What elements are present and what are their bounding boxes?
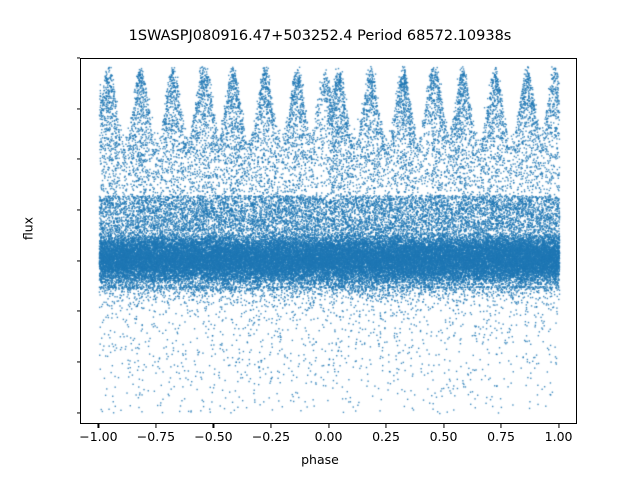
matplotlib-figure: 1SWASPJ080916.47+503252.4 Period 68572.1… xyxy=(0,0,640,480)
scatter-plot-canvas xyxy=(81,59,577,424)
x-axis-label: phase xyxy=(0,452,640,467)
y-axis-label: flux xyxy=(21,179,36,279)
y-tick-mark xyxy=(77,361,81,362)
y-tick-mark xyxy=(77,57,81,58)
y-tick-mark xyxy=(77,260,81,261)
y-tick-mark xyxy=(77,209,81,210)
x-tick-mark xyxy=(558,424,559,428)
x-tick-mark xyxy=(328,424,329,428)
plot-axes-area xyxy=(80,58,577,424)
x-tick-label: 1.00 xyxy=(524,429,594,444)
x-tick-mark xyxy=(213,424,214,428)
y-tick-mark xyxy=(77,108,81,109)
page-title: 1SWASPJ080916.47+503252.4 Period 68572.1… xyxy=(0,28,640,44)
x-tick-mark xyxy=(98,424,99,428)
y-tick-mark xyxy=(77,412,81,413)
y-tick-mark xyxy=(77,311,81,312)
x-tick-mark xyxy=(385,424,386,428)
x-tick-mark xyxy=(501,424,502,428)
x-tick-mark xyxy=(155,424,156,428)
x-tick-mark xyxy=(270,424,271,428)
x-tick-mark xyxy=(443,424,444,428)
y-tick-mark xyxy=(77,159,81,160)
